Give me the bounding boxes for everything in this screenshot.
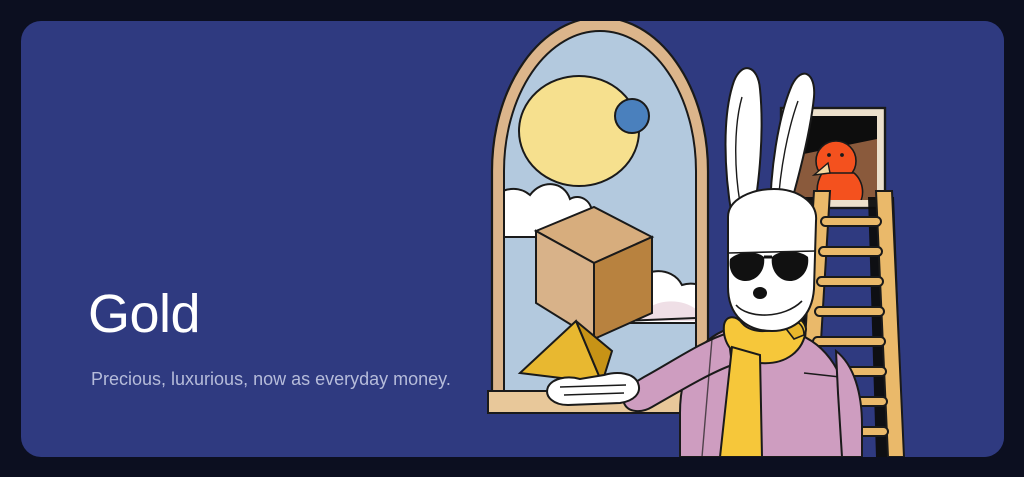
hero-copy-block: Gold Precious, luxurious, now as everyda… xyxy=(88,283,528,391)
hero-subtitle: Precious, luxurious, now as everyday mon… xyxy=(91,367,528,391)
hero-illustration xyxy=(484,21,1004,457)
rabbit-glove xyxy=(547,373,639,405)
screenshot-root: Gold Precious, luxurious, now as everyda… xyxy=(0,0,1024,477)
blue-circle-shape xyxy=(615,99,649,133)
page-title: Gold xyxy=(88,283,528,345)
hero-card: Gold Precious, luxurious, now as everyda… xyxy=(21,21,1004,457)
sun-shape xyxy=(519,76,639,186)
rabbit-nose xyxy=(753,287,767,299)
